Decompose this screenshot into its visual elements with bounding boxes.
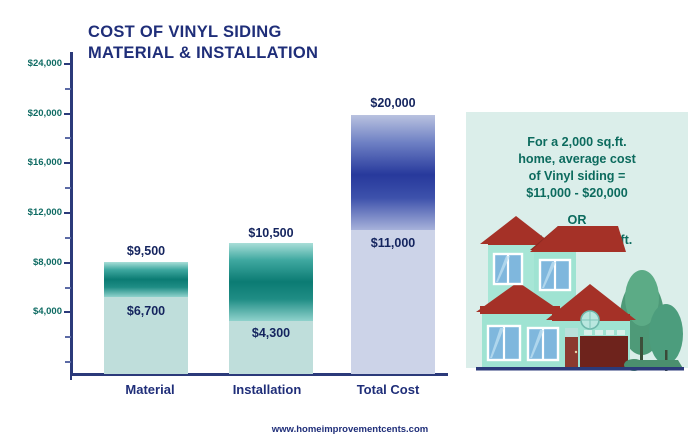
bar-total-cost-lower-segment [351, 230, 435, 374]
footer-url[interactable]: www.homeimprovementcents.com [0, 424, 700, 435]
garage-door-icon [580, 330, 628, 370]
bar-installation-low-label: $4,300 [229, 326, 313, 340]
y-axis-label-4000: $4,000 [6, 306, 62, 317]
y-tick-24000 [64, 63, 71, 65]
window-upper-left-icon [494, 254, 522, 284]
y-tick-12000 [64, 212, 71, 214]
x-tick-origin [70, 373, 72, 380]
y-tick-minor-6000 [65, 287, 71, 289]
bar-installation-total-label: $10,500 [229, 226, 313, 240]
y-tick-minor-10000 [65, 237, 71, 239]
x-axis-label-material: Material [95, 382, 205, 397]
x-axis-label-total-cost: Total Cost [333, 382, 443, 397]
house-illustration [466, 112, 688, 374]
y-axis-label-8000: $8,000 [6, 257, 62, 268]
y-tick-minor-800 [65, 361, 71, 363]
title-line-1: COST OF VINYL SIDING [88, 23, 282, 41]
y-tick-minor-14000 [65, 187, 71, 189]
bar-material-upper-segment [104, 262, 188, 297]
window-lower-left-icon [488, 326, 520, 360]
y-tick-minor-18000 [65, 137, 71, 139]
y-tick-16000 [64, 162, 71, 164]
bar-material[interactable] [104, 262, 188, 374]
bar-installation-upper-segment [229, 243, 313, 321]
y-axis-label-20000: $20,000 [6, 108, 62, 119]
window-upper-right-icon [540, 260, 570, 290]
y-tick-minor-2000 [65, 336, 71, 338]
y-tick-8000 [64, 262, 71, 264]
y-axis-label-24000: $24,000 [6, 58, 62, 69]
y-axis-label-16000: $16,000 [6, 157, 62, 168]
annotation-panel: For a 2,000 sq.ft. home, average cost of… [466, 112, 688, 374]
bar-material-total-label: $9,500 [104, 244, 188, 258]
x-axis-label-installation: Installation [208, 382, 326, 397]
bar-total-cost-total-label: $20,000 [351, 96, 435, 110]
bar-material-low-label: $6,700 [104, 304, 188, 318]
bar-installation[interactable] [229, 243, 313, 374]
y-axis-label-12000: $12,000 [6, 207, 62, 218]
bar-total-cost-low-label: $11,000 [351, 236, 435, 250]
title-line-2: MATERIAL & INSTALLATION [88, 43, 318, 64]
y-tick-minor-22000 [65, 88, 71, 90]
y-tick-20000 [64, 113, 71, 115]
window-lower-middle-icon [528, 328, 558, 360]
page-title: COST OF VINYL SIDING MATERIAL & INSTALLA… [88, 22, 318, 64]
front-door-icon [565, 328, 578, 370]
bar-total-cost-upper-segment [351, 115, 435, 230]
y-tick-4000 [64, 311, 71, 313]
chart-canvas: COST OF VINYL SIDING MATERIAL & INSTALLA… [0, 0, 700, 446]
